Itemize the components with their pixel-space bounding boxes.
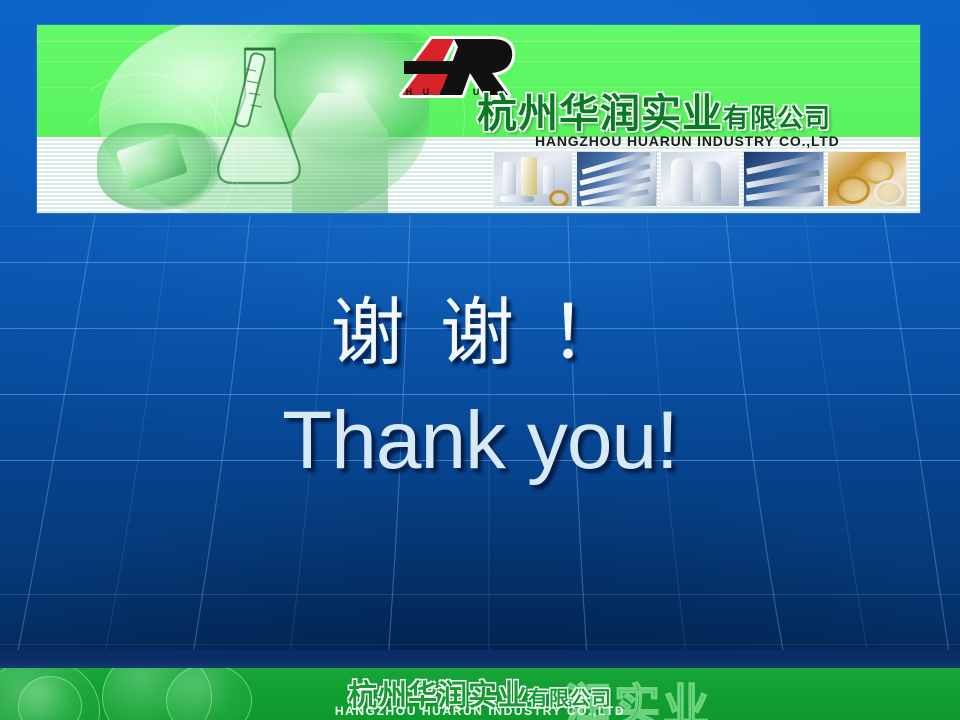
presentation-slide: H U A R U N 杭州华润实业有限公司 HANGZHOU HUARUN I…: [0, 0, 960, 720]
footer-bar: 润实业 杭州华润实业有限公司 HANGZHOU HUARUN INDUSTRY …: [0, 668, 960, 720]
product-photo: [827, 151, 907, 207]
company-header-banner: H U A R U N 杭州华润实业有限公司 HANGZHOU HUARUN I…: [37, 25, 920, 213]
thank-you-chinese: 谢 谢 ！: [0, 296, 960, 370]
banner-company-name-cn-suffix: 有限公司: [723, 104, 831, 134]
globe-latitude-line: [0, 594, 960, 595]
banner-company-name-cn: 杭州华润实业有限公司: [477, 81, 831, 139]
product-photo-strip: [493, 151, 907, 207]
globe-latitude-line: [0, 262, 960, 263]
banner-company-name-cn-main: 杭州华润实业: [477, 91, 723, 137]
globe-latitude-line: [0, 226, 960, 227]
footer-navy-strip: [0, 650, 960, 668]
thank-you-english: Thank you!: [0, 400, 960, 482]
product-photo: [576, 151, 656, 207]
product-photo: [493, 151, 573, 207]
product-photo: [743, 151, 823, 207]
product-photo: [660, 151, 740, 207]
banner-company-name-en: HANGZHOU HUARUN INDUSTRY CO.,LTD: [535, 133, 840, 149]
footer-company-name-en: HANGZHOU HUARUN INDUSTRY CO.,LTD: [0, 704, 960, 718]
globe-latitude-line: [0, 644, 960, 645]
